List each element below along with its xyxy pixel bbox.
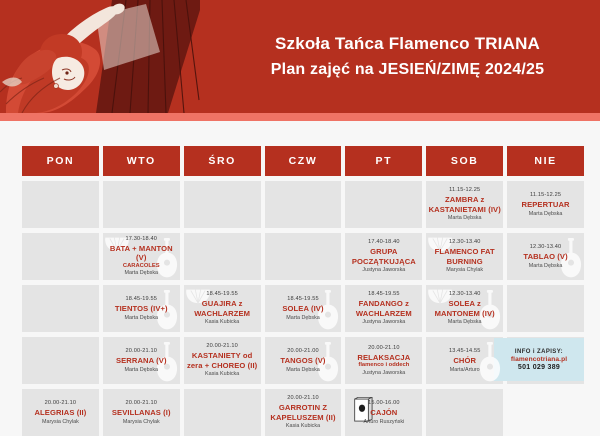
class-teacher: Marta Dębska — [124, 315, 158, 321]
phone-number[interactable]: 501 029 389 — [518, 364, 560, 371]
class-title: TABLAO (V) — [522, 252, 568, 261]
class-title: GRUPA POCZĄTKUJĄCA — [346, 247, 421, 265]
class-cell[interactable]: 18.45-19.55GUAJIRA z WACHLARZEMKasia Kub… — [184, 285, 261, 332]
class-teacher: Arturo Ruszyński — [363, 419, 404, 425]
class-teacher: Marta Dębska — [448, 215, 482, 221]
class-time: 12.30-13.40 — [530, 244, 562, 251]
class-cell[interactable]: 11.15-12.25REPERTUARMarta Dębska — [507, 181, 584, 228]
class-time: 20.00-21.10 — [287, 395, 319, 402]
empty-slot — [22, 233, 99, 280]
class-teacher: Marta Dębska — [529, 211, 563, 217]
class-title: SERRANA (V) — [115, 356, 168, 365]
school-name: Szkoła Tańca Flamenco TRIANA — [275, 34, 540, 54]
class-cell[interactable]: 17.40-18.40GRUPA POCZĄTKUJĄCAJustyna Jaw… — [345, 233, 422, 280]
class-time: 20.00-21.00 — [287, 348, 319, 355]
class-time: 13.45-14.55 — [449, 348, 481, 355]
empty-slot — [265, 233, 342, 280]
class-time: 17.30-18.40 — [126, 236, 158, 243]
class-title: FLAMENCO FAT BURNING — [427, 247, 502, 265]
empty-slot — [103, 181, 180, 228]
class-title: KASTANIETY od zera + CHOREO (II) — [185, 351, 260, 369]
class-teacher: Kasia Kubicka — [205, 371, 239, 377]
class-cell[interactable]: 20.00-21.10SERRANA (V)Marta Dębska — [103, 337, 180, 384]
empty-slot — [184, 389, 261, 436]
class-cell[interactable]: 17.30-18.40BATA + MANTON (V)CARACOLESMar… — [103, 233, 180, 280]
class-teacher: Marta Dębska — [124, 270, 158, 276]
class-title: CHÓR — [452, 356, 477, 365]
class-teacher: Justyna Jaworska — [362, 370, 405, 376]
empty-slot — [22, 181, 99, 228]
day-header-nie: NIE — [507, 146, 584, 176]
class-teacher: Marta Dębska — [448, 319, 482, 325]
class-teacher: Kasia Kubicka — [205, 319, 239, 325]
class-time: 20.00-21.10 — [126, 348, 158, 355]
day-header-pon: PON — [22, 146, 99, 176]
empty-slot — [507, 285, 584, 332]
class-title: TIENTOS (IV+) — [114, 304, 169, 313]
class-title: BATA + MANTON (V) — [104, 244, 179, 262]
class-cell[interactable]: 12.30-13.40SOLEA z MANTONEM (IV)Marta Dę… — [426, 285, 503, 332]
class-time: 11.15-12.25 — [530, 192, 561, 199]
class-teacher: Marta/Arturo — [450, 367, 480, 373]
class-time: 18.45-19.55 — [126, 296, 158, 303]
day-header-śro: ŚRO — [184, 146, 261, 176]
class-cell[interactable]: 20.00-21.10ALEGRIAS (II)Marysia Chylak — [22, 389, 99, 436]
class-subtitle: CARACOLES — [123, 263, 160, 270]
class-time: 18.45-19.55 — [287, 296, 319, 303]
class-subtitle: flamenco i oddech — [358, 362, 409, 369]
header-banner: Szkoła Tańca Flamenco TRIANA Plan zajęć … — [0, 0, 600, 113]
header-title-block: Szkoła Tańca Flamenco TRIANA Plan zajęć … — [215, 0, 600, 113]
class-title: SOLEA (IV) — [281, 304, 324, 313]
info-box-slot — [507, 389, 584, 436]
class-cell[interactable]: 20.00-21.10SEVILLANAS (I)Marysia Chylak — [103, 389, 180, 436]
class-title: CAJÓN — [369, 408, 398, 417]
day-header-pt: PT — [345, 146, 422, 176]
class-title: REPERTUAR — [520, 200, 570, 209]
schedule-subtitle: Plan zajęć na JESIEŃ/ZIMĘ 2024/25 — [271, 61, 544, 79]
class-time: 20.00-21.10 — [126, 400, 158, 407]
class-time: 20.00-21.10 — [45, 400, 77, 407]
empty-slot — [184, 181, 261, 228]
class-time: 18.45-19.55 — [368, 291, 400, 298]
class-title: ALEGRIAS (II) — [33, 408, 87, 417]
class-title: SEVILLANAS (I) — [111, 408, 172, 417]
class-teacher: Justyna Jaworska — [362, 319, 405, 325]
class-cell[interactable]: 20.00-21.10KASTANIETY od zera + CHOREO (… — [184, 337, 261, 384]
class-time: 15.00-16.00 — [368, 400, 400, 407]
class-title: FANDANGO z WACHLARZEM — [346, 299, 421, 317]
empty-slot — [184, 233, 261, 280]
class-time: 12.30-13.40 — [449, 291, 481, 298]
class-title: SOLEA z MANTONEM (IV) — [427, 299, 502, 317]
empty-slot — [265, 181, 342, 228]
empty-slot — [426, 389, 503, 436]
day-header-sob: SOB — [426, 146, 503, 176]
class-title: GARROTIN Z KAPELUSZEM (II) — [266, 403, 341, 421]
info-label: INFO i ZAPISY: — [515, 349, 563, 355]
class-time: 11.15-12.25 — [449, 187, 480, 194]
class-cell[interactable]: 11.15-12.25ZAMBRA z KASTANIETAMI (IV)Mar… — [426, 181, 503, 228]
class-cell[interactable]: 18.45-19.55FANDANGO z WACHLARZEMJustyna … — [345, 285, 422, 332]
day-header-czw: CZW — [265, 146, 342, 176]
class-teacher: Marta Dębska — [286, 367, 320, 373]
class-cell[interactable]: 20.00-21.10GARROTIN Z KAPELUSZEM (II)Kas… — [265, 389, 342, 436]
class-teacher: Marysia Chylak — [446, 267, 483, 273]
class-teacher: Marta Dębska — [286, 315, 320, 321]
info-signup-box[interactable]: INFO i ZAPISY:flamencotriana.pl501 029 3… — [494, 338, 584, 381]
class-teacher: Kasia Kubicka — [286, 423, 320, 429]
schedule-grid: PONWTOŚROCZWPTSOBNIE11.15-12.25ZAMBRA z … — [22, 146, 584, 436]
class-cell[interactable]: 13.45-14.55CHÓRMarta/Arturo — [426, 337, 503, 384]
class-teacher: Marysia Chylak — [42, 419, 79, 425]
flamenco-dancer-illustration — [0, 0, 200, 113]
empty-slot — [22, 337, 99, 384]
class-cell[interactable]: 20.00-21.00TANGOS (V)Marta Dębska — [265, 337, 342, 384]
banner-accent-stripe — [0, 113, 600, 121]
class-teacher: Justyna Jaworska — [362, 267, 405, 273]
class-cell[interactable]: 12.30-13.40FLAMENCO FAT BURNINGMarysia C… — [426, 233, 503, 280]
class-cell[interactable]: 12.30-13.40TABLAO (V)Marta Dębska — [507, 233, 584, 280]
website-link[interactable]: flamencotriana.pl — [511, 356, 567, 363]
class-time: 12.30-13.40 — [449, 239, 481, 246]
class-time: 18.45-19.55 — [206, 291, 238, 298]
schedule-page: Szkoła Tańca Flamenco TRIANA Plan zajęć … — [0, 0, 600, 403]
class-teacher: Marysia Chylak — [123, 419, 160, 425]
class-title: ZAMBRA z KASTANIETAMI (IV) — [427, 195, 502, 213]
class-cell[interactable]: 20.00-21.10RELAKSACJAflamenco i oddechJu… — [345, 337, 422, 384]
class-title: TANGOS (V) — [279, 356, 326, 365]
class-teacher: Marta Dębska — [529, 263, 563, 269]
class-time: 20.00-21.10 — [206, 343, 238, 350]
class-title: GUAJIRA z WACHLARZEM — [185, 299, 260, 317]
class-cell[interactable]: 18.45-19.55TIENTOS (IV+)Marta Dębska — [103, 285, 180, 332]
class-cell[interactable]: 15.00-16.00CAJÓNArturo Ruszyński — [345, 389, 422, 436]
class-time: 20.00-21.10 — [368, 345, 400, 352]
class-time: 17.40-18.40 — [368, 239, 400, 246]
empty-slot — [22, 285, 99, 332]
class-title: RELAKSACJA — [356, 353, 411, 362]
class-teacher: Marta Dębska — [124, 367, 158, 373]
day-header-wto: WTO — [103, 146, 180, 176]
class-cell[interactable]: 18.45-19.55SOLEA (IV)Marta Dębska — [265, 285, 342, 332]
empty-slot — [345, 181, 422, 228]
